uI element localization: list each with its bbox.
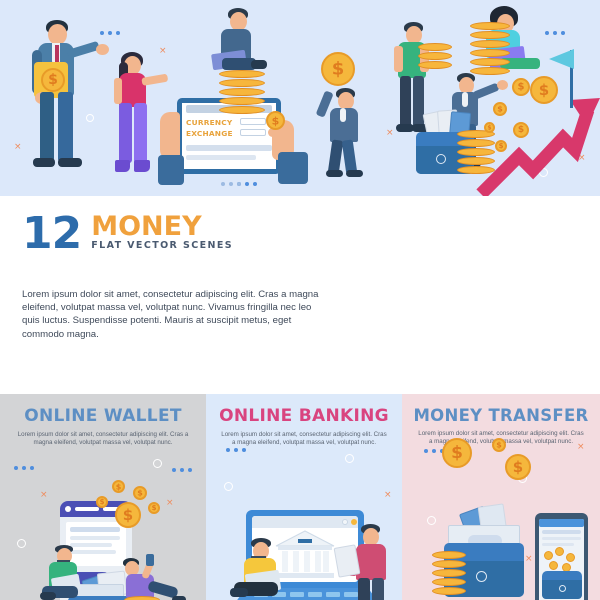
panel-online-wallet: ONLINE WALLET Lorem ipsum dolor sit amet… [0,394,206,600]
decor-dots [221,182,241,186]
brand-lockup: 12 MONEY FLAT VECTOR SCENES [22,214,233,254]
coin-icon [549,561,558,570]
coin-icon: $ [41,68,65,92]
bank-building-icon [274,530,336,580]
coin-icon: $ [112,480,125,493]
coin-icon [566,553,575,562]
coin-icon: $ [442,438,472,468]
decor-dots [545,31,565,35]
coin-icon: $ [505,454,531,480]
decor-dots [424,449,444,453]
label-exchange: EXCHANGE [186,129,233,138]
poster-canvas: × × × × $ [0,0,600,600]
decor-cross: × [159,46,167,56]
poster-title: MONEY [91,214,233,239]
poster-subtitle: FLAT VECTOR SCENES [91,240,233,252]
coin-icon: $ [96,496,108,508]
decor-ring [86,114,94,122]
panel-title-money-transfer: MONEY TRANSFER [402,394,600,425]
coin-icon [555,547,564,556]
decor-dots [100,31,120,35]
decor-cross: × [14,142,22,152]
coin-icon: $ [148,502,160,514]
scene-count: 12 [22,214,81,254]
decor-cross: × [384,490,392,500]
panel-money-transfer: MONEY TRANSFER Lorem ipsum dolor sit ame… [402,394,600,600]
decor-dots [172,468,192,472]
panel-title-online-banking: ONLINE BANKING [206,394,402,426]
decor-cross: × [577,442,585,452]
flag-icon [548,48,574,70]
top-banner-panel: × × × × $ [0,0,600,196]
panel-body-online-banking: Lorem ipsum dolor sit amet, consectetur … [220,431,388,448]
panel-body-online-wallet: Lorem ipsum dolor sit amet, consectetur … [14,431,192,448]
panel-online-banking: ONLINE BANKING Lorem ipsum dolor sit ame… [206,394,402,600]
coin-icon: $ [115,502,141,528]
decor-cross: × [40,490,48,500]
label-currency: CURRENCY [186,118,232,127]
coin-icon: $ [133,486,147,500]
coin-icon: $ [492,438,506,452]
growth-arrow-icon [475,60,600,196]
decor-ring [224,482,233,491]
decor-ring [153,459,162,468]
decor-cross: × [525,554,533,564]
decor-cross: × [386,128,394,138]
decor-ring [17,539,26,548]
coin-icon: $ [321,52,355,86]
coin-icon [544,551,553,560]
decor-cross: × [166,498,174,508]
panel-title-online-wallet: ONLINE WALLET [0,394,206,426]
decor-ring [345,454,354,463]
decor-dots [226,448,246,452]
coin-icon: $ [266,111,285,130]
decor-ring [427,516,436,525]
poster-body-text: Lorem ipsum dolor sit amet, consectetur … [22,288,322,341]
decor-dots [14,466,34,470]
